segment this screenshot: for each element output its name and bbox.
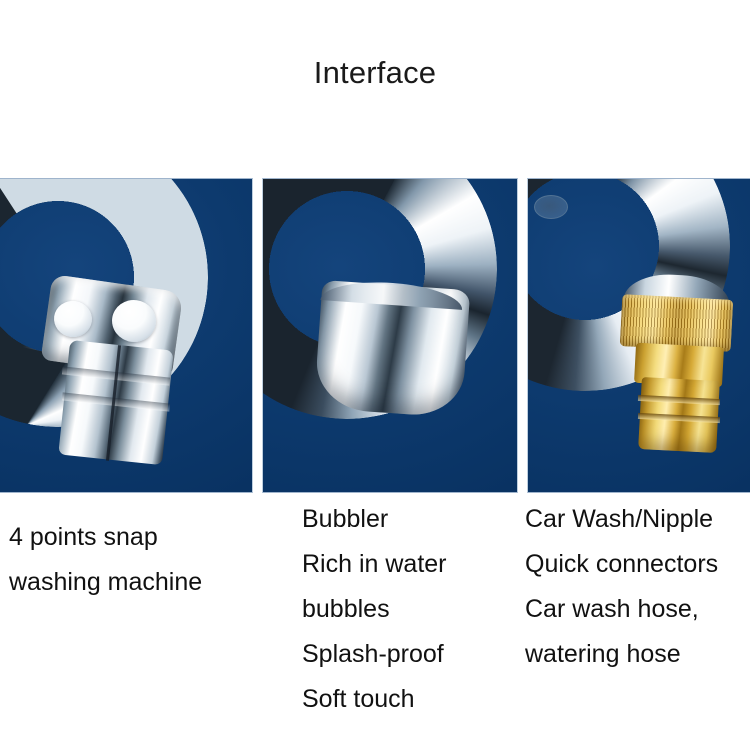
caption-line: Quick connectors	[525, 542, 718, 587]
caption-line: Soft touch	[302, 677, 447, 722]
caption-line: bubbles	[302, 587, 447, 632]
brand-emblem-icon	[534, 195, 568, 219]
faucet-bubbler-aerator-icon	[263, 179, 517, 492]
caption-line: Car Wash/Nipple	[525, 497, 718, 542]
caption-column-snap: 4 points snap washing machine	[9, 493, 202, 605]
faucet-snap-connector-icon	[0, 179, 252, 492]
caption-line: washing machine	[9, 560, 202, 605]
product-image-strip	[0, 178, 750, 493]
panel-divider-2	[518, 178, 527, 493]
caption-line: Rich in water	[302, 542, 447, 587]
caption-column-bubbler: Bubbler Rich in water bubbles Splash-pro…	[302, 493, 447, 722]
faucet-brass-quick-connector-icon	[528, 179, 750, 492]
caption-line: Bubbler	[302, 497, 447, 542]
caption-line: 4 points snap	[9, 515, 202, 560]
caption-line: watering hose	[525, 632, 718, 677]
caption-line: Splash-proof	[302, 632, 447, 677]
caption-column-carwash: Car Wash/Nipple Quick connectors Car was…	[525, 493, 718, 677]
product-image-snap-connector	[0, 178, 253, 493]
product-feature-page: Interface	[0, 0, 750, 750]
caption-area: 4 points snap washing machine Bubbler Ri…	[0, 493, 750, 750]
product-image-quick-connector	[527, 178, 750, 493]
page-title: Interface	[0, 54, 750, 92]
product-image-bubbler	[262, 178, 518, 493]
panel-divider-1	[253, 178, 262, 493]
caption-line: Car wash hose,	[525, 587, 718, 632]
